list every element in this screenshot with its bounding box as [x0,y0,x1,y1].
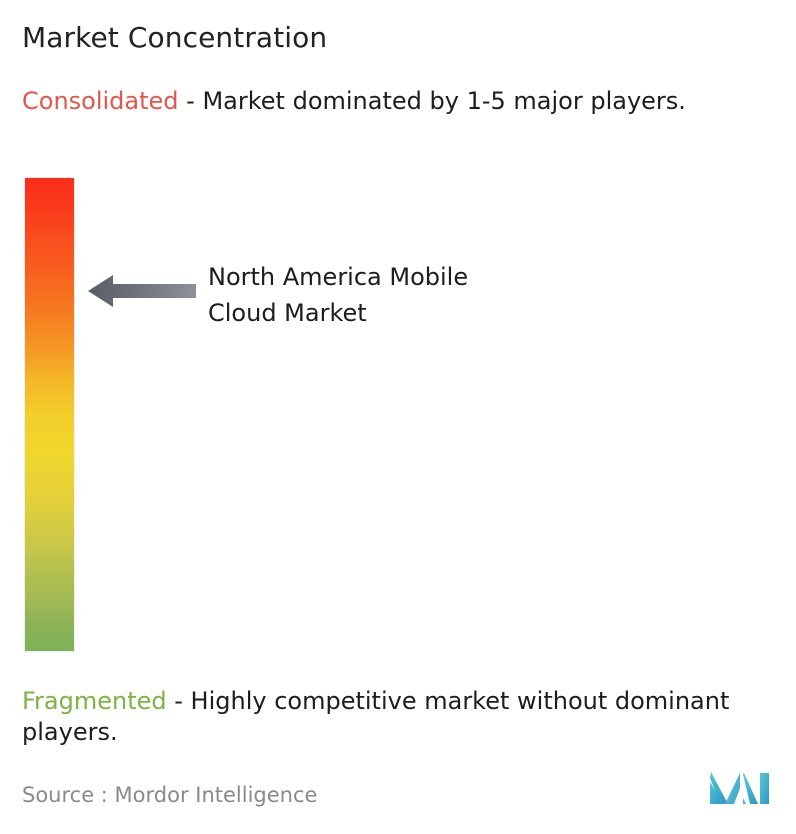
legend-description-consolidated: - Market dominated by 1-5 major players. [179,87,686,115]
legend-fragmented: Fragmented - Highly competitive market w… [22,686,786,748]
legend-consolidated: Consolidated - Market dominated by 1-5 m… [22,86,786,117]
marker-label-north-america-mobile-cloud-market: North America Mobile Cloud Market [208,259,628,331]
left-arrow-icon [87,271,197,311]
legend-key-fragmented: Fragmented [22,687,167,715]
source-label: Source : Mordor Intelligence [22,781,317,809]
legend-key-consolidated: Consolidated [22,87,179,115]
marker-label-line-1: North America Mobile [208,259,628,295]
page-title: Market Concentration [22,20,327,56]
concentration-gradient-bar [24,177,75,652]
marker-label-line-2: Cloud Market [208,295,628,331]
mordor-intelligence-logo [710,768,770,810]
market-concentration-chart: Market Concentration Consolidated - Mark… [0,0,796,834]
